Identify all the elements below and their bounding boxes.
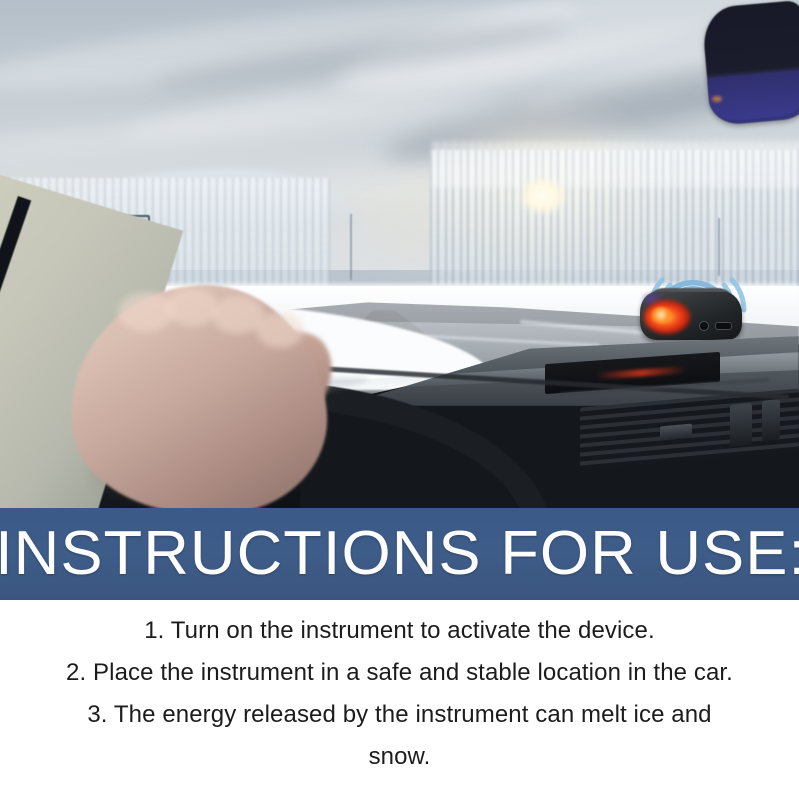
- display-red-segments: [595, 366, 687, 379]
- utility-pole: [350, 214, 352, 280]
- photo-driving-scene: [0, 0, 799, 510]
- page-title: INSTRUCTIONS FOR USE:: [0, 523, 799, 585]
- dashboard-button: [730, 403, 752, 447]
- frost-tree-tops: [430, 142, 799, 188]
- knuckle: [166, 288, 218, 326]
- instructions-banner: INSTRUCTIONS FOR USE:: [0, 508, 799, 600]
- rear-view-mirror-glass: [707, 70, 799, 122]
- instruction-step-1: 1. Turn on the instrument to activate th…: [0, 610, 799, 652]
- sun-disc: [520, 178, 566, 214]
- knuckle: [256, 312, 304, 348]
- device-usb-port: [716, 323, 731, 329]
- device-jack-port: [700, 322, 708, 330]
- product-infographic: INSTRUCTIONS FOR USE: 1. Turn on the ins…: [0, 0, 799, 786]
- dashboard-button: [762, 399, 780, 441]
- device-red-led-core: [650, 307, 672, 323]
- instruction-step-3: 3. The energy released by the instrument…: [0, 694, 799, 736]
- device-assembly: [628, 252, 758, 344]
- vent-knob: [660, 424, 692, 441]
- knuckle: [118, 292, 174, 332]
- instructions-list: 1. Turn on the instrument to activate th…: [0, 600, 799, 786]
- instruction-step-2: 2. Place the instrument in a safe and st…: [0, 652, 799, 694]
- mirror-glint: [712, 96, 722, 102]
- instruction-step-3-continued: snow.: [0, 736, 799, 778]
